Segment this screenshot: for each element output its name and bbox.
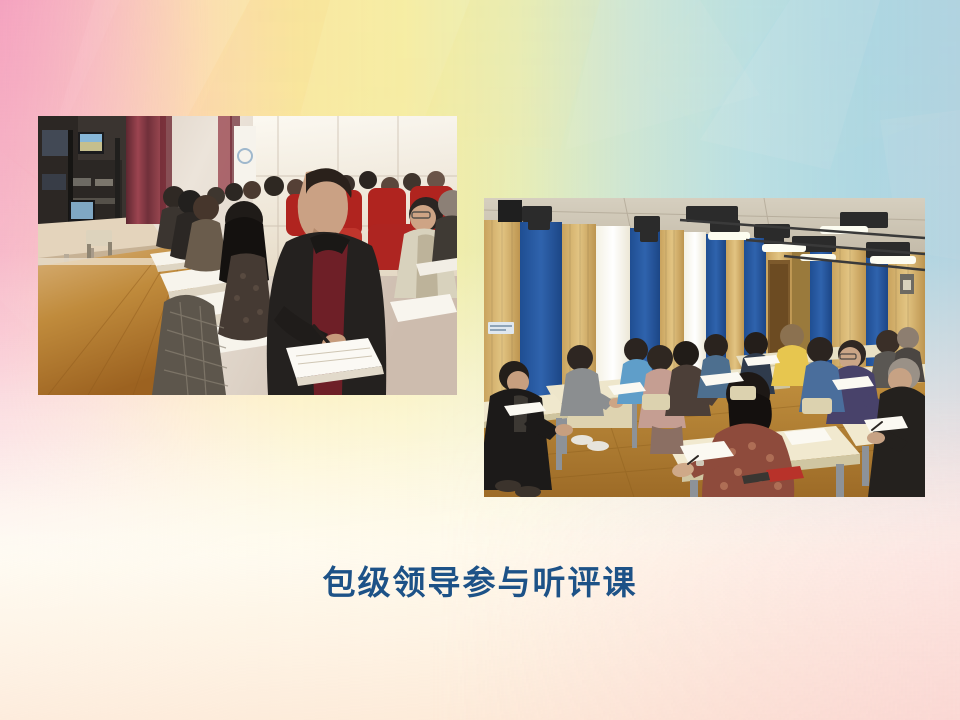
slide-caption: 包级领导参与听评课 xyxy=(0,561,960,605)
presentation-slide: 包级领导参与听评课 xyxy=(0,0,960,720)
photo-lecture-hall[interactable] xyxy=(38,116,457,395)
photo-classroom[interactable] xyxy=(484,198,925,497)
